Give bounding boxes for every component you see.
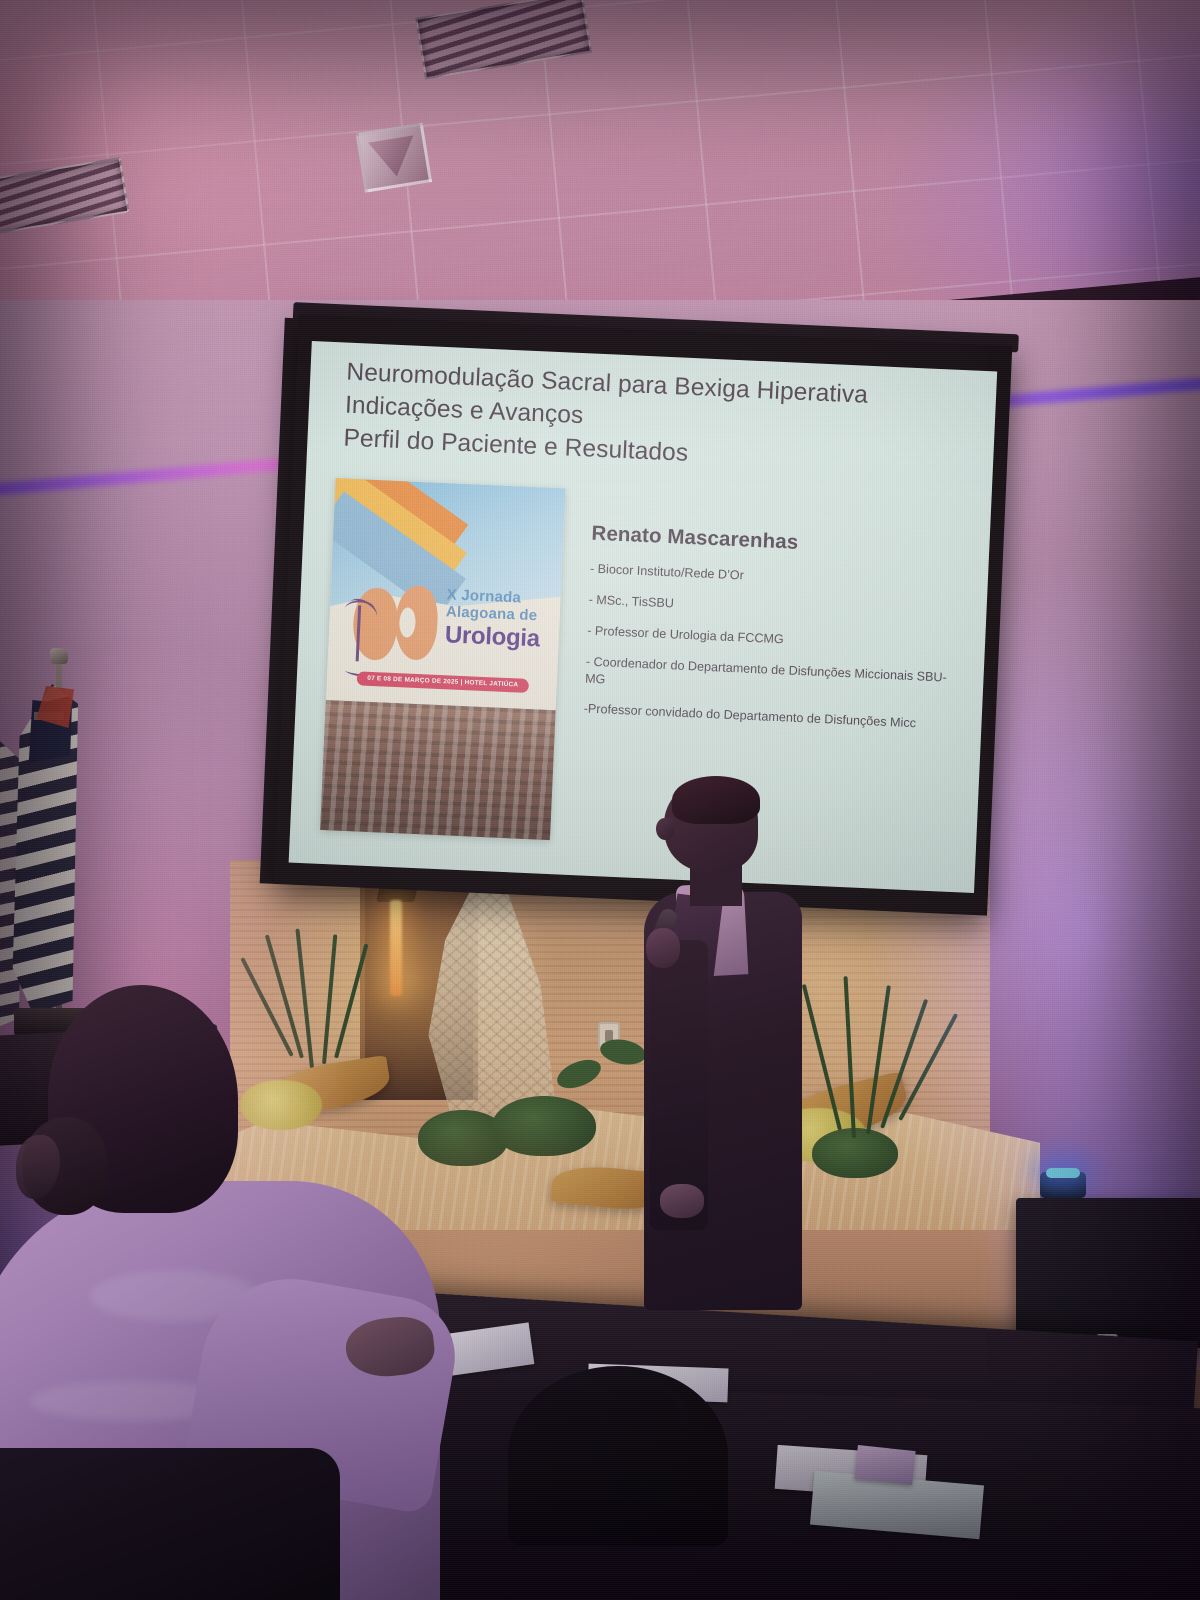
audience-chair <box>0 1448 340 1600</box>
conference-logo-card: X Jornada Alagoana de Urologia 07 E 08 D… <box>320 478 565 840</box>
presenter-hand <box>660 1184 704 1218</box>
credential-item: -Professor convidado do Departamento de … <box>583 701 961 735</box>
paper-document <box>854 1445 915 1485</box>
wall-sconce-light <box>390 900 402 996</box>
decor-foliage <box>492 1096 596 1156</box>
credential-item: - Professor de Urologia da FCCMG <box>587 622 965 656</box>
conference-photo-scene: Neuromodulação Sacral para Bexiga Hipera… <box>0 0 1200 1600</box>
ceiling-diffuser-icon <box>355 123 432 193</box>
presenter-hand <box>646 928 680 968</box>
slide-title: Neuromodulação Sacral para Bexiga Hipera… <box>343 357 977 483</box>
led-uplight-fixture <box>1040 1172 1086 1198</box>
speaker-bio-block: Renato Mascarenhas - Biocor Instituto/Re… <box>583 522 970 749</box>
flag-finial <box>50 648 68 664</box>
credential-item: - MSc., TisSBU <box>588 591 966 625</box>
presenter-profile <box>656 818 674 840</box>
speaker-name: Renato Mascarenhas <box>591 522 970 563</box>
credential-item: - Coordenador do Departamento de Disfunç… <box>585 653 964 704</box>
logo-text-block: X Jornada Alagoana de Urologia <box>444 587 559 653</box>
presenter <box>628 780 814 1310</box>
logo-city-photo <box>320 700 556 840</box>
credential-item: - Biocor Instituto/Rede D’Or <box>590 561 968 595</box>
pa-speaker-cabinet <box>1016 1198 1200 1348</box>
presenter-hair <box>672 776 760 824</box>
logo-line-3: Urologia <box>444 622 557 654</box>
